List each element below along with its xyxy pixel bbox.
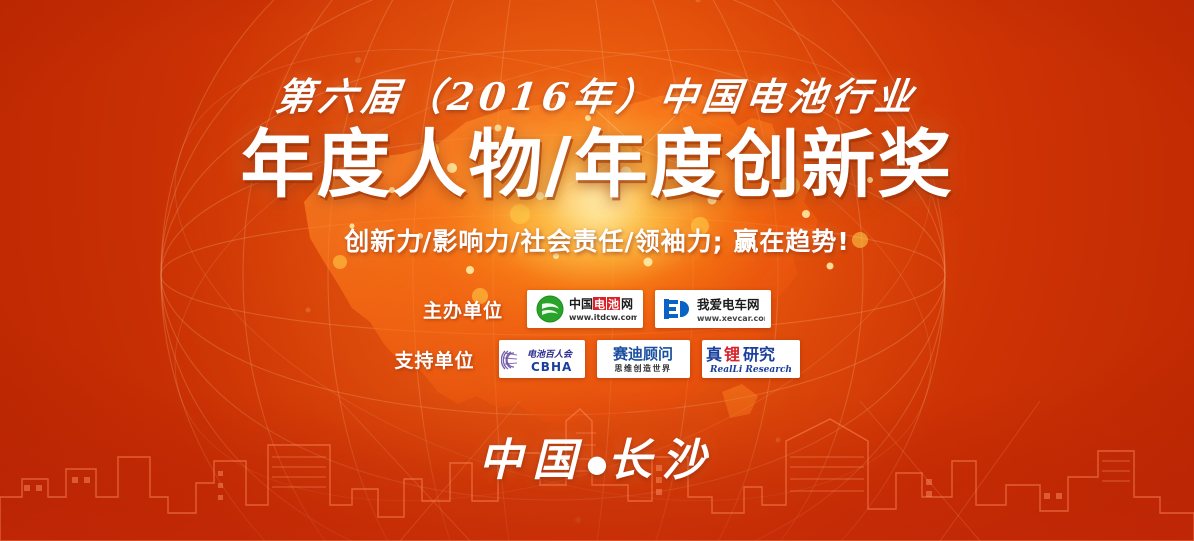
- plug-socket-icon: [664, 299, 689, 319]
- svg-text:思维创造世界: 思维创造世界: [614, 363, 671, 373]
- svg-text:RealLi Research: RealLi Research: [709, 365, 792, 375]
- logo-wordmark: 真 锂 研究 RealLi Research: [706, 345, 792, 375]
- svg-text:赛迪顾问: 赛迪顾问: [611, 345, 672, 363]
- svg-text:CBHA: CBHA: [531, 360, 572, 374]
- event-banner: 第六届（2016年）中国电池行业 年度人物/年度创新奖 创新力/影响力/社会责任…: [0, 0, 1194, 541]
- event-location: 中国●长沙: [0, 424, 1194, 488]
- organizer-label: 主办单位: [423, 296, 503, 323]
- logo-ccid[interactable]: 赛迪顾问 思维创造世界: [597, 340, 690, 378]
- supporter-label: 支持单位: [394, 346, 474, 373]
- logo-realli[interactable]: 真 锂 研究 RealLi Research: [702, 340, 800, 378]
- supporter-row: 支持单位: [0, 340, 1194, 378]
- svg-text:电: 电: [594, 297, 605, 311]
- svg-text:www.itdcw.com: www.itdcw.com: [569, 313, 637, 322]
- logo-wordmark: 中国 电 池 网 www.itdcw.com: [569, 296, 637, 322]
- logo-cbha[interactable]: 电池百人会 CBHA: [499, 340, 585, 378]
- svg-text:研究: 研究: [743, 345, 775, 364]
- svg-text:锂: 锂: [724, 345, 740, 364]
- event-subtitle: 创新力/影响力/社会责任/领袖力; 赢在趋势!: [0, 222, 1194, 258]
- logo-xevcar[interactable]: 我爱电车网 www.xevcar.com: [655, 290, 771, 328]
- svg-text:电池百人会: 电池百人会: [527, 349, 574, 360]
- globe-swoosh-icon: [537, 296, 563, 322]
- svg-text:网: 网: [621, 297, 633, 311]
- svg-text:www.xevcar.com: www.xevcar.com: [697, 314, 765, 323]
- svg-text:真: 真: [706, 345, 722, 364]
- svg-text:我爱电车网: 我爱电车网: [697, 297, 760, 312]
- logo-itdcw[interactable]: 中国 电 池 网 www.itdcw.com: [527, 290, 643, 328]
- logo-wordmark: 我爱电车网 www.xevcar.com: [697, 297, 765, 323]
- location-country: 中国: [479, 435, 587, 486]
- location-city: 长沙: [607, 435, 715, 486]
- logo-wordmark: 电池百人会 CBHA: [527, 349, 574, 374]
- svg-text:中国: 中国: [569, 296, 593, 311]
- event-headline: 年度人物/年度创新奖: [0, 128, 1194, 202]
- svg-text:池: 池: [608, 297, 619, 311]
- logo-wordmark: 赛迪顾问 思维创造世界: [611, 345, 672, 373]
- banner-content: 第六届（2016年）中国电池行业 年度人物/年度创新奖 创新力/影响力/社会责任…: [0, 0, 1194, 541]
- fan-arc-icon: [501, 351, 517, 369]
- location-separator-dot: ●: [587, 449, 608, 478]
- event-kicker: 第六届（2016年）中国电池行业: [0, 66, 1194, 121]
- organizer-row: 主办单位 中国 电 池 网: [0, 290, 1194, 328]
